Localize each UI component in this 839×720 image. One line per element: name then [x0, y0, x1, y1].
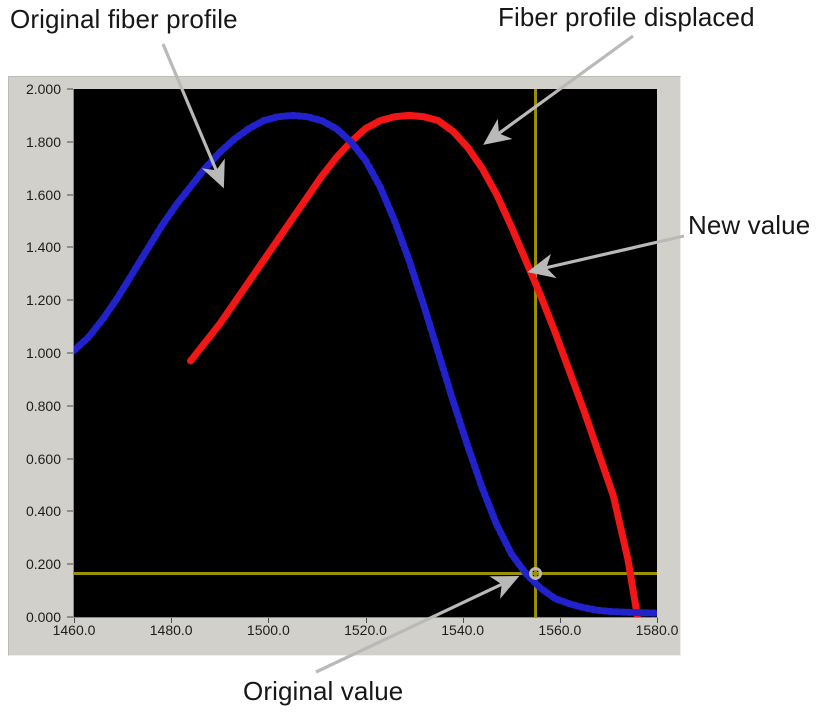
annotation-original-value: Original value	[243, 676, 403, 706]
x-axis-tick-label: 1540.0	[441, 622, 484, 638]
x-axis-tick-label: 1500.0	[247, 622, 290, 638]
figure-root: Original fiber profile Fiber profile dis…	[0, 0, 839, 720]
x-axis-tick-mark	[74, 618, 75, 623]
y-axis-tick-label: 1.800	[1, 134, 61, 150]
plot-canvas	[74, 89, 657, 617]
y-axis-tick-label: 2.000	[1, 81, 61, 97]
x-axis-tick-mark	[560, 618, 561, 623]
x-axis-tick-mark	[268, 618, 269, 623]
y-axis-tick-label: 1.000	[1, 345, 61, 361]
y-axis-tick-mark	[67, 194, 73, 195]
annotation-new-value: New value	[688, 210, 810, 240]
y-axis-tick-mark	[67, 458, 73, 459]
y-axis-tick-mark	[67, 247, 73, 248]
y-axis-tick-mark	[67, 89, 73, 90]
y-axis-tick-label: 0.200	[1, 556, 61, 572]
x-axis-tick-label: 1520.0	[344, 622, 387, 638]
y-axis-tick-label: 0.800	[1, 398, 61, 414]
trace-fiber-profile-displaced	[191, 115, 638, 617]
y-axis-tick-label: 0.400	[1, 503, 61, 519]
annotation-fiber-profile-displaced: Fiber profile displaced	[498, 2, 755, 32]
x-axis-tick-label: 1480.0	[150, 622, 193, 638]
y-axis-tick-mark	[67, 564, 73, 565]
y-axis-tick-mark	[67, 353, 73, 354]
x-axis-tick-mark	[657, 618, 658, 623]
y-axis-tick-label: 1.600	[1, 187, 61, 203]
y-axis-tick-mark	[67, 300, 73, 301]
x-axis-tick-label: 1580.0	[636, 622, 679, 638]
x-axis-tick-label: 1560.0	[538, 622, 581, 638]
annotation-original-fiber-profile: Original fiber profile	[10, 4, 238, 34]
y-axis-tick-label: 1.200	[1, 292, 61, 308]
plot-area[interactable]	[74, 89, 657, 617]
x-axis-tick-label: 1460.0	[53, 622, 96, 638]
x-axis-tick-mark	[171, 618, 172, 623]
x-axis-tick-mark	[463, 618, 464, 623]
y-axis-tick-label: 1.400	[1, 239, 61, 255]
y-axis-tick-mark	[67, 617, 73, 618]
y-axis-tick-mark	[67, 405, 73, 406]
graph-panel: 0.0000.2000.4000.6000.8001.0001.2001.400…	[8, 76, 681, 656]
x-axis-tick-mark	[366, 618, 367, 623]
y-axis-tick-mark	[67, 511, 73, 512]
y-axis-tick-mark	[67, 141, 73, 142]
y-axis-tick-label: 0.600	[1, 451, 61, 467]
